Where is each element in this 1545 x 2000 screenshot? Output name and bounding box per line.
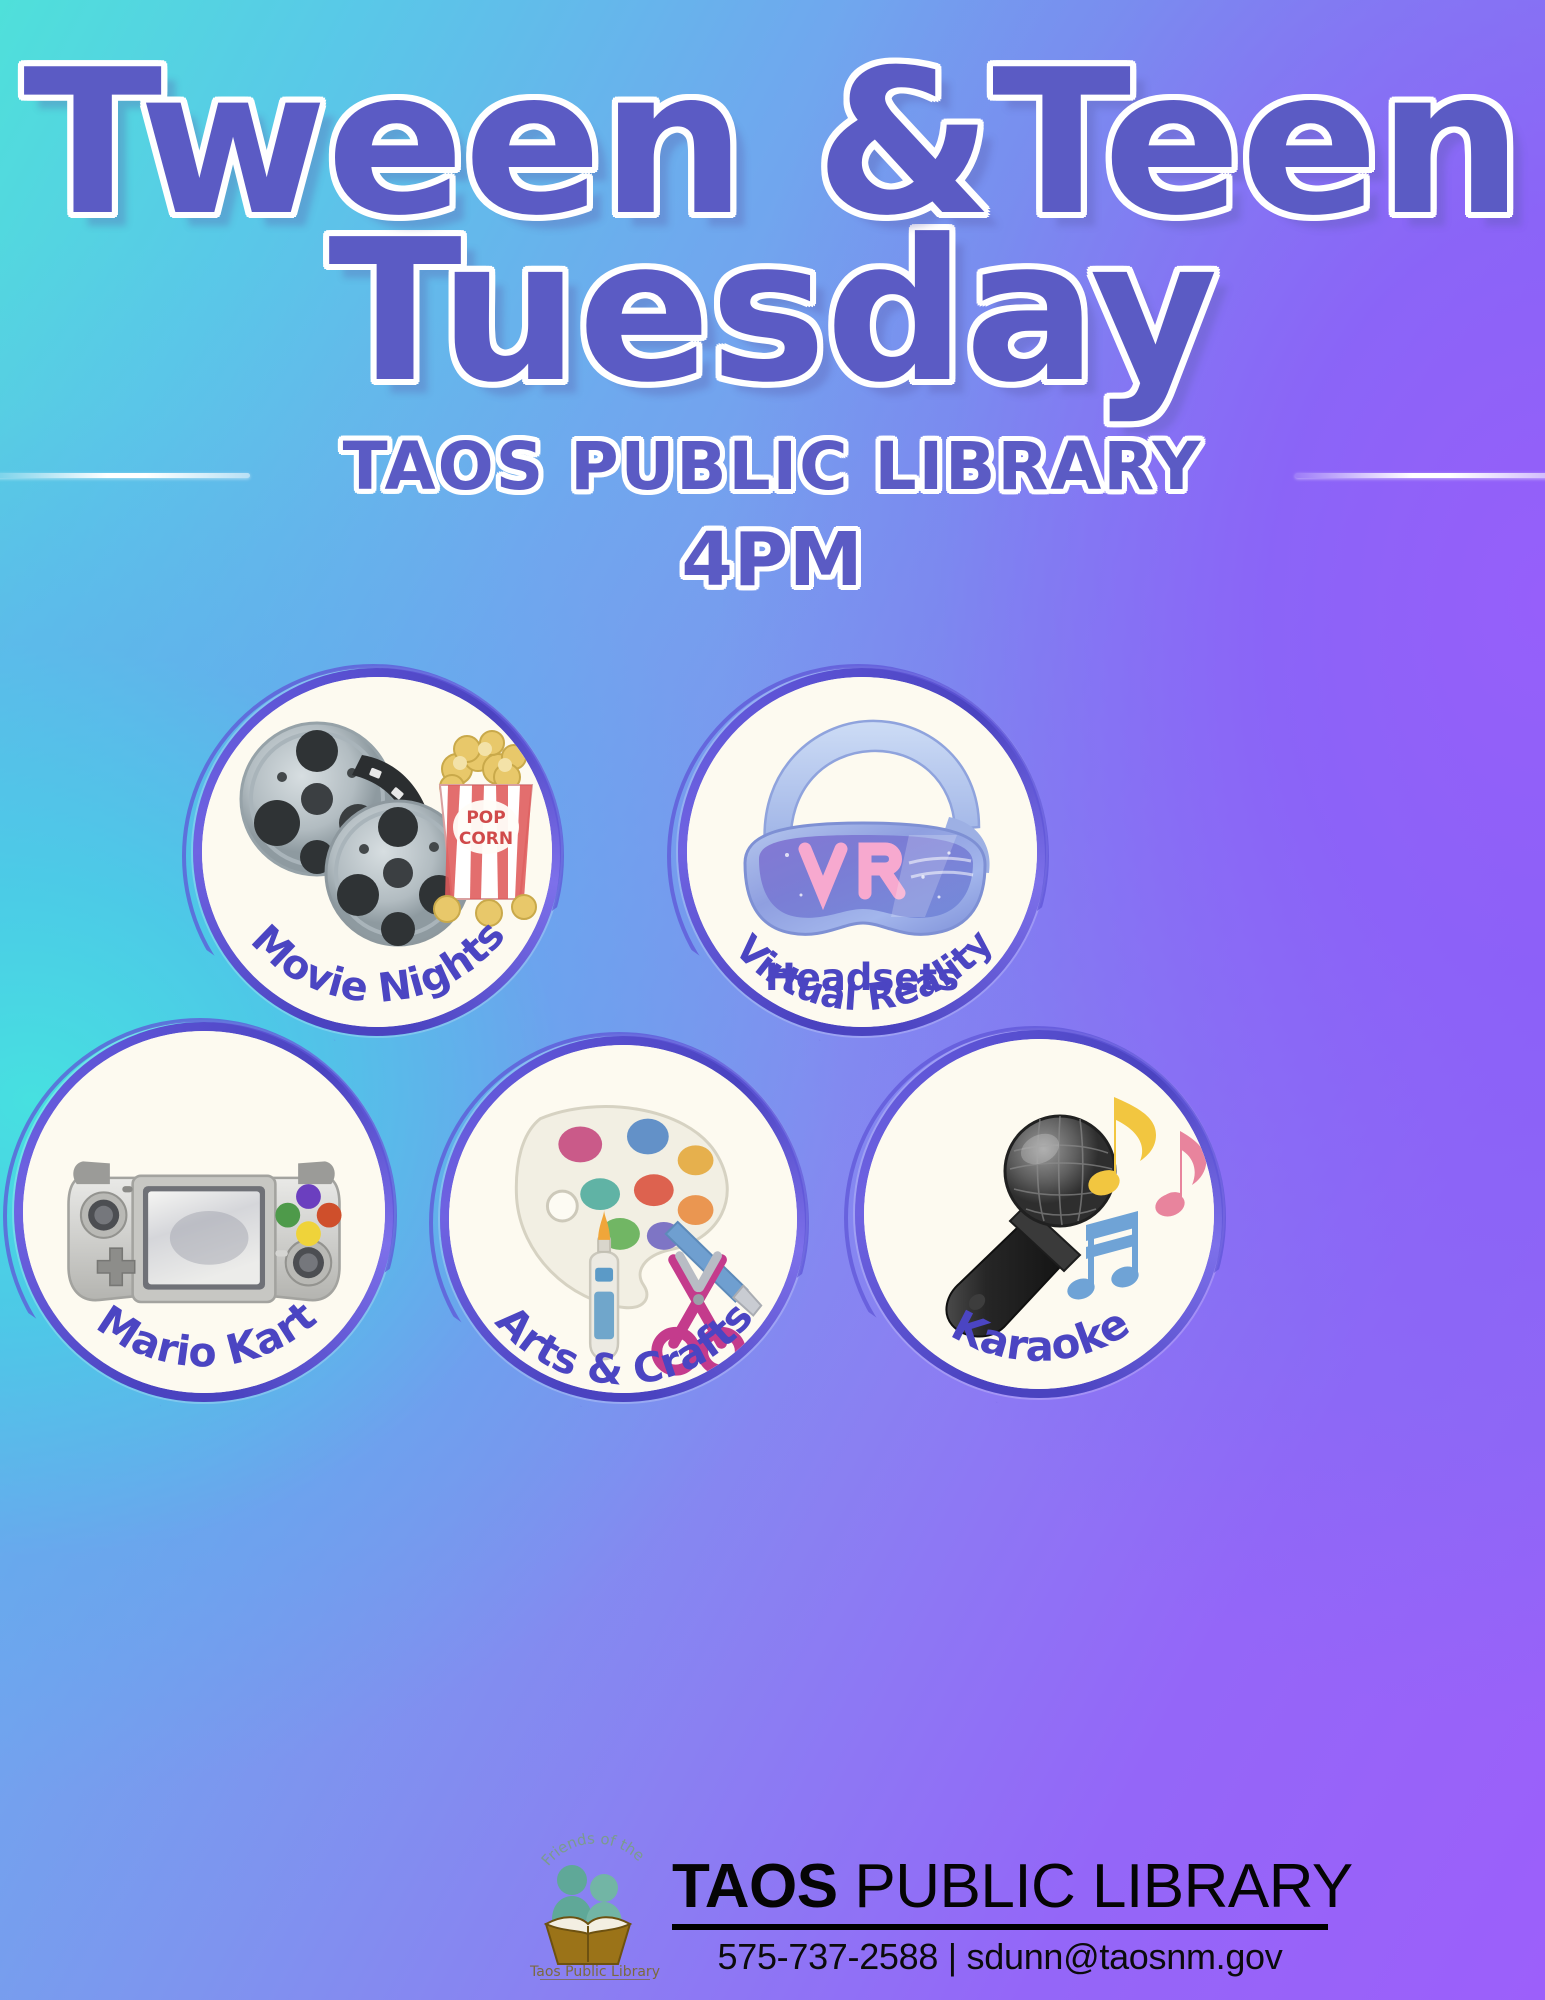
divider-left — [0, 473, 250, 478]
divider-right — [1295, 473, 1545, 478]
badge-face — [449, 1045, 797, 1393]
poster-canvas: Tween &Teen Tuesday TAOS PUBLIC LIBRARY … — [0, 0, 1545, 2000]
contact-line: 575-737-2588 | sdunn@taosnm.gov — [672, 1936, 1328, 1978]
library-wordmark-block: TAOS PUBLIC LIBRARY 575-737-2588 | sdunn… — [672, 1856, 1352, 1978]
badge-face: POP CORN — [202, 677, 552, 1027]
activity-badge-karaoke[interactable]: Karaoke — [855, 1030, 1223, 1398]
activity-badge-mario-kart[interactable]: Mario Kart — [14, 1022, 394, 1402]
footer: Friends of the Taos Public Library TAOS … — [0, 1802, 1545, 1992]
fol-arc-text: Friends of the — [538, 1829, 649, 1869]
venue-label: TAOS PUBLIC LIBRARY — [0, 428, 1545, 505]
activity-badge-virtual-reality-headsets[interactable]: Virtual Reality Headsets — [678, 668, 1046, 1036]
wordmark-underline — [672, 1924, 1328, 1930]
activity-badge-arts-and-crafts[interactable]: Arts & Crafts — [440, 1036, 806, 1402]
page-title-line1: Tween &Teen — [0, 52, 1545, 236]
film-reel-popcorn-icon: POP CORN — [202, 677, 552, 1027]
microphone-music-notes-icon — [864, 1039, 1214, 1389]
svg-text:Friends of the: Friends of the — [538, 1829, 649, 1869]
library-wordmark-rest: PUBLIC LIBRARY — [838, 1852, 1353, 1921]
vr-headset-icon — [687, 677, 1037, 1027]
activity-badge-movie-nights[interactable]: POP CORN Movie Nights — [193, 668, 561, 1036]
handheld-game-console-icon — [23, 1031, 385, 1393]
library-wordmark: TAOS PUBLIC LIBRARY — [672, 1856, 1352, 1918]
time-label: 4PM — [0, 517, 1545, 603]
svg-text:POP: POP — [466, 808, 505, 828]
library-wordmark-bold: TAOS — [672, 1852, 838, 1921]
svg-text:CORN: CORN — [459, 829, 513, 849]
badge-face — [687, 677, 1037, 1027]
friends-of-the-library-logo: Friends of the Taos Public Library — [520, 1812, 670, 1980]
paint-palette-glue-scissors-icon — [449, 1045, 797, 1393]
fol-name-text: Taos Public Library — [529, 1964, 660, 1980]
title-block: Tween &Teen Tuesday TAOS PUBLIC LIBRARY … — [0, 52, 1545, 603]
badge-face — [23, 1031, 385, 1393]
badge-face — [864, 1039, 1214, 1389]
